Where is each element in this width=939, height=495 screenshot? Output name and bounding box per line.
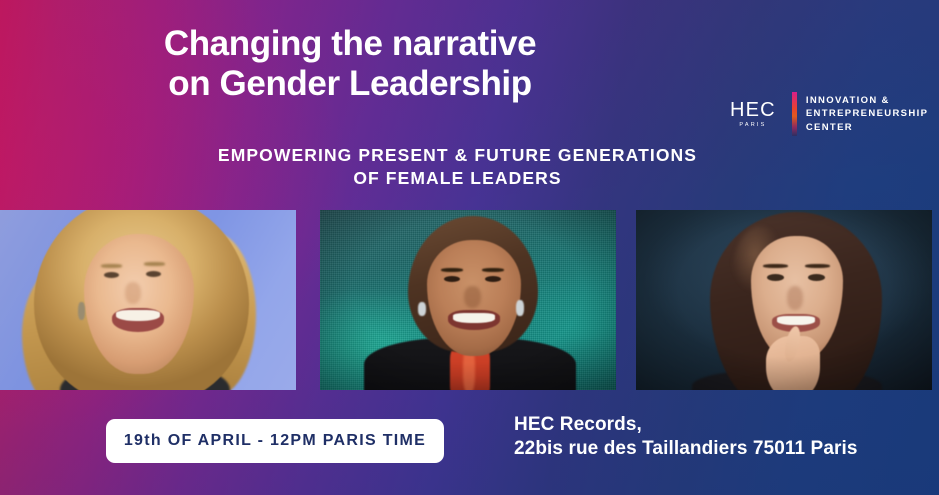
event-date-text: 19th OF APRIL - 12PM PARIS TIME <box>124 432 426 450</box>
photo-2-vignette <box>320 210 616 390</box>
logo-gradient-bar-icon <box>792 92 797 136</box>
venue-line-1: HEC Records, <box>514 413 858 437</box>
hec-wordmark: HEC PARIS <box>730 100 792 129</box>
photo-1-eye-right <box>146 271 161 277</box>
innovation-entrepreneurship-center-wordmark: INNOVATION & ENTREPRENEURSHIP CENTER <box>806 94 928 134</box>
event-banner: Changing the narrative on Gender Leaders… <box>0 0 939 495</box>
logo-center-line-3: CENTER <box>806 121 928 134</box>
photo-1-nose <box>125 282 141 304</box>
hec-paris-text: PARIS <box>739 123 766 129</box>
subtitle-line-1: EMPOWERING PRESENT & FUTURE GENERATIONS <box>0 144 915 167</box>
hec-brand-text: HEC <box>730 100 776 120</box>
event-venue: HEC Records, 22bis rue des Taillandiers … <box>514 413 858 462</box>
speaker-photo-3-image <box>636 210 932 390</box>
photo-1-eye-left <box>104 272 119 278</box>
venue-line-2: 22bis rue des Taillandiers 75011 Paris <box>514 437 858 461</box>
title-line-2: on Gender Leadership <box>0 64 700 104</box>
speaker-photo-2-image <box>320 210 616 390</box>
speaker-photo-1-image <box>0 210 296 390</box>
speaker-photo-1 <box>0 210 296 390</box>
logo-center-line-2: ENTREPRENEURSHIP <box>806 107 928 120</box>
photo-3-vignette <box>636 210 932 390</box>
subtitle-line-2: OF FEMALE LEADERS <box>0 167 915 190</box>
speaker-photo-3 <box>636 210 932 390</box>
photo-1-brow-right <box>144 262 165 266</box>
photo-1-mouth <box>112 308 164 332</box>
page-title: Changing the narrative on Gender Leaders… <box>0 24 700 104</box>
event-date-badge: 19th OF APRIL - 12PM PARIS TIME <box>106 419 444 463</box>
photo-1-teeth <box>116 310 160 321</box>
page-subtitle: EMPOWERING PRESENT & FUTURE GENERATIONS … <box>0 144 915 191</box>
logo-center-line-1: INNOVATION & <box>806 94 928 107</box>
hec-paris-logo: HEC PARIS INNOVATION & ENTREPRENEURSHIP … <box>730 92 928 136</box>
speaker-photo-2 <box>320 210 616 390</box>
photo-1-earring <box>78 302 85 320</box>
title-line-1: Changing the narrative <box>0 24 700 64</box>
photo-1-brow-left <box>101 264 122 268</box>
